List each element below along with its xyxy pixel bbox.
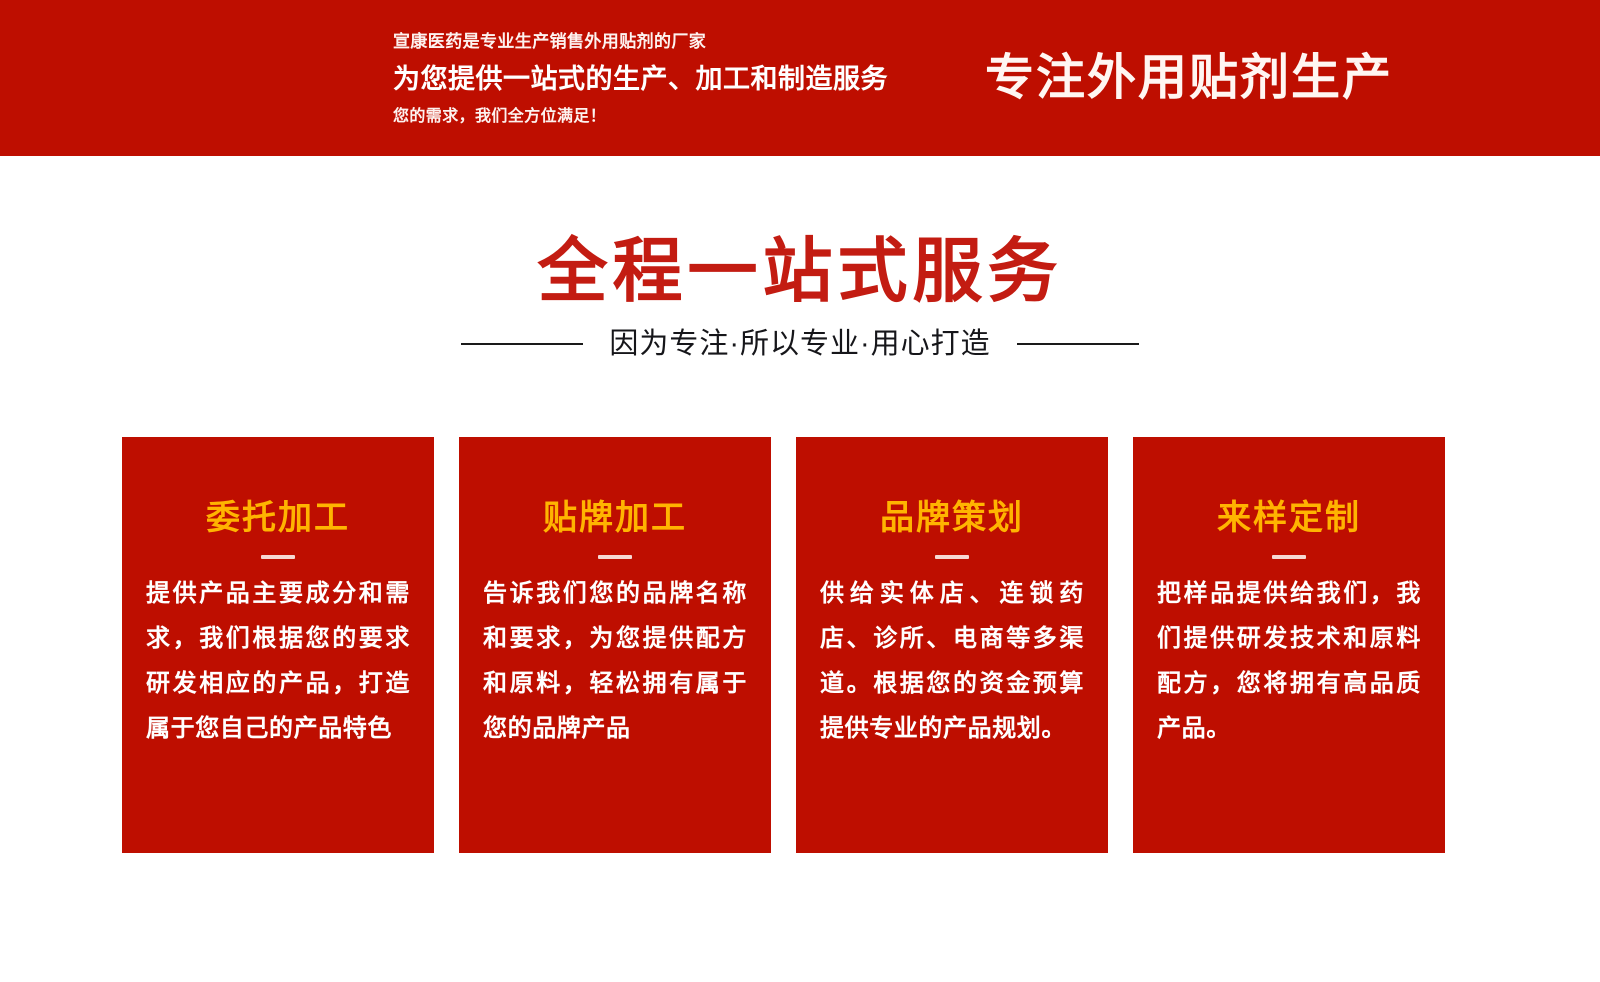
service-card-description: 告诉我们您的品牌名称和要求，为您提供配方和原料，轻松拥有属于您的品牌产品	[483, 571, 747, 751]
service-card[interactable]: 品牌策划 供给实体店、连锁药店、诊所、电商等多渠道。根据您的资金预算提供专业的产…	[796, 437, 1108, 853]
top-banner: 宣康医药是专业生产销售外用贴剂的厂家 为您提供一站式的生产、加工和制造服务 您的…	[0, 0, 1600, 156]
card-divider	[935, 555, 969, 559]
banner-headline: 为您提供一站式的生产、加工和制造服务	[393, 59, 913, 99]
service-card-title: 品牌策划	[820, 495, 1084, 541]
banner-text-block: 宣康医药是专业生产销售外用贴剂的厂家 为您提供一站式的生产、加工和制造服务 您的…	[393, 30, 913, 129]
promo-page: 宣康医药是专业生产销售外用贴剂的厂家 为您提供一站式的生产、加工和制造服务 您的…	[0, 0, 1600, 982]
rule-right-decoration	[1017, 343, 1139, 345]
card-divider	[261, 555, 295, 559]
card-divider	[1272, 555, 1306, 559]
service-card-description: 提供产品主要成分和需求，我们根据您的要求研发相应的产品，打造属于您自己的产品特色	[146, 571, 410, 751]
service-card-title: 贴牌加工	[483, 495, 747, 541]
service-card[interactable]: 贴牌加工 告诉我们您的品牌名称和要求，为您提供配方和原料，轻松拥有属于您的品牌产…	[459, 437, 771, 853]
rule-left-decoration	[461, 343, 583, 345]
page-subtitle: 因为专注·所以专业·用心打造	[609, 324, 990, 364]
card-divider	[598, 555, 632, 559]
service-card-list: 委托加工 提供产品主要成分和需求，我们根据您的要求研发相应的产品，打造属于您自己…	[122, 437, 1439, 853]
service-card-title: 来样定制	[1157, 495, 1421, 541]
service-card[interactable]: 来样定制 把样品提供给我们，我们提供研发技术和原料配方，您将拥有高品质产品。	[1133, 437, 1445, 853]
subtitle-row: 因为专注·所以专业·用心打造	[0, 324, 1600, 364]
banner-slogan: 专注外用贴剂生产	[985, 47, 1393, 109]
service-card[interactable]: 委托加工 提供产品主要成分和需求，我们根据您的要求研发相应的产品，打造属于您自己…	[122, 437, 434, 853]
service-card-title: 委托加工	[146, 495, 410, 541]
page-title: 全程一站式服务	[0, 228, 1600, 314]
service-card-description: 供给实体店、连锁药店、诊所、电商等多渠道。根据您的资金预算提供专业的产品规划。	[820, 571, 1084, 751]
banner-subline: 您的需求，我们全方位满足！	[393, 105, 913, 129]
service-card-description: 把样品提供给我们，我们提供研发技术和原料配方，您将拥有高品质产品。	[1157, 571, 1421, 751]
section-header: 全程一站式服务 因为专注·所以专业·用心打造	[0, 228, 1600, 364]
banner-tagline-small: 宣康医药是专业生产销售外用贴剂的厂家	[393, 30, 913, 54]
